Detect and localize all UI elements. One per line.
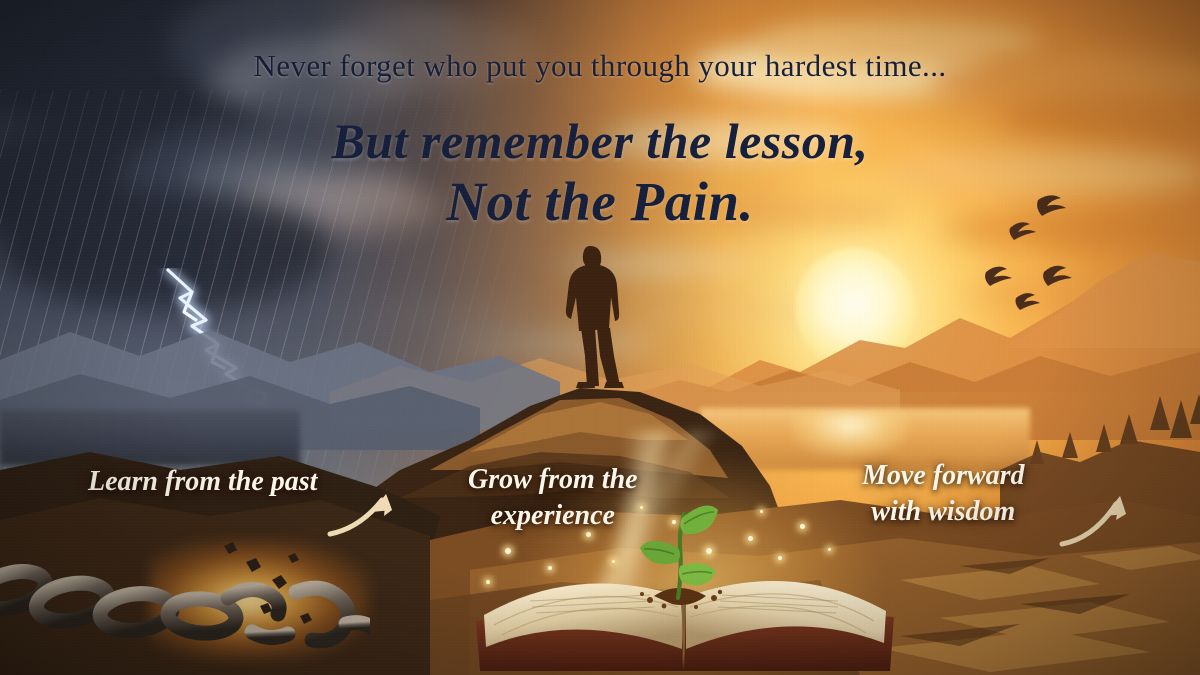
arrow-right-caption-icon (1058, 478, 1150, 556)
page-title: Never forget who put you through your ha… (0, 48, 1200, 84)
caption-move-forward-with-wisdom: Move forward with wisdom (862, 458, 1025, 530)
quote-line-2: Not the Pain. (0, 170, 1200, 233)
caption-mid-line-1: Grow from the (468, 462, 638, 498)
arrow-left-caption-icon (326, 466, 416, 540)
green-sprout (620, 500, 740, 610)
caption-learn-from-the-past: Learn from the past (88, 464, 317, 500)
caption-mid-line-2: experience (468, 498, 638, 534)
poster-canvas: Never forget who put you through your ha… (0, 0, 1200, 675)
caption-right-line-1: Move forward (862, 458, 1025, 494)
standing-man-silhouette (550, 238, 640, 388)
broken-chain (0, 520, 370, 675)
caption-grow-from-the-experience: Grow from the experience (468, 462, 638, 534)
caption-right-line-2: with wisdom (862, 494, 1025, 530)
quote-line-1: But remember the lesson, (0, 112, 1200, 170)
